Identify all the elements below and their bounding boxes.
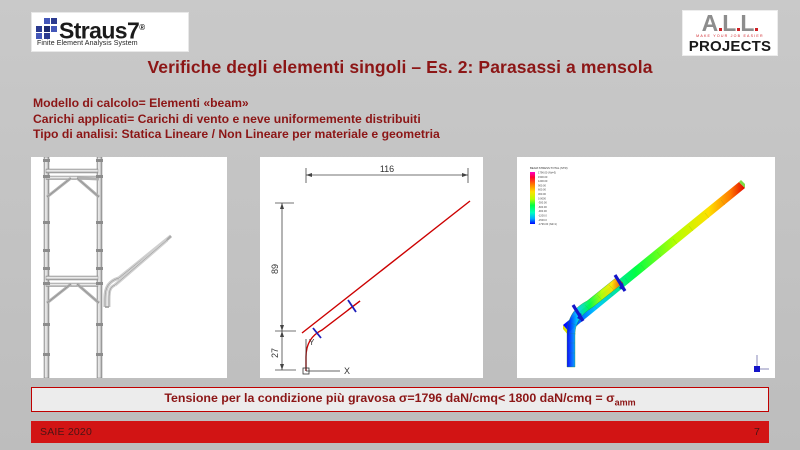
all-projects-logo: ALL MAKE YOUR JOB EASIER PROJECTS [682, 10, 778, 56]
svg-text:0.0000: 0.0000 [538, 196, 546, 200]
svg-text:900.00: 900.00 [538, 183, 546, 187]
straus7-wordmark: Straus7® [59, 17, 144, 42]
svg-text:-900.00: -900.00 [538, 209, 547, 213]
conclusion-subscript: amm [615, 398, 636, 408]
svg-text:600.00: 600.00 [538, 188, 546, 192]
image-panel-fe-result: BEAM:STRESS:TOTAL (STR) 1796.00 (Nd=3) 1… [517, 157, 775, 378]
svg-text:-600.00: -600.00 [538, 205, 547, 209]
svg-text:-1796.00 (Nd=1): -1796.00 (Nd=1) [538, 222, 557, 226]
svg-text:-1200.0: -1200.0 [538, 214, 547, 218]
straus7-tagline: Finite Element Analysis System [36, 40, 188, 47]
dimension-label-horizontal: 116 [380, 164, 394, 174]
slide-footer: SAIE 2020 7 [31, 421, 769, 443]
connector-element-1 [313, 328, 321, 338]
all-letters: ALL [702, 12, 759, 34]
axis-label-y: Y [309, 338, 315, 347]
contour-color-bar [530, 172, 535, 224]
registered-icon: ® [139, 23, 144, 32]
dimension-label-vertical-upper: 89 [270, 264, 280, 274]
all-projects-wordmark: PROJECTS [689, 39, 771, 55]
svg-text:1796.00 (Nd=3): 1796.00 (Nd=3) [538, 171, 556, 175]
result-upper-beam [563, 180, 745, 336]
straus7-logo-row: Straus7® [36, 17, 188, 42]
conclusion-text-main: Tensione per la condizione più gravosa σ… [164, 391, 614, 405]
footer-event-label: SAIE 2020 [40, 426, 92, 438]
beam-lower-member [306, 301, 360, 371]
slide: Straus7® Finite Element Analysis System … [0, 0, 800, 450]
beam-upper-member [302, 201, 470, 333]
straus7-logo: Straus7® Finite Element Analysis System [31, 12, 189, 52]
svg-text:300.00: 300.00 [538, 192, 546, 196]
bullet-item-analysis: Tipo di analisi: Statica Lineare / Non L… [33, 127, 440, 143]
image-panel-fe-geometry: 116 89 27 [260, 157, 483, 378]
axis-label-x: X [344, 366, 350, 376]
contour-legend-values: 1796.00 (Nd=3) 1500.00 1200.00 900.00 60… [538, 171, 557, 227]
conclusion-banner: Tensione per la condizione più gravosa σ… [31, 387, 769, 412]
dimension-label-vertical-lower: 27 [270, 348, 280, 358]
svg-text:1500.00: 1500.00 [538, 175, 548, 179]
image-panel-scaffold-frame [31, 157, 227, 378]
footer-page-number: 7 [754, 426, 760, 438]
axis-triad-icon [754, 355, 769, 372]
contour-legend-title: BEAM:STRESS:TOTAL (STR) [530, 166, 568, 170]
connector-element-2 [348, 300, 356, 312]
page-title: Verifiche degli elementi singoli – Es. 2… [0, 57, 800, 78]
svg-text:-300.00: -300.00 [538, 201, 547, 205]
conclusion-text: Tensione per la condizione più gravosa σ… [164, 391, 635, 407]
svg-text:1200.00: 1200.00 [538, 179, 548, 183]
straus7-grid-icon [36, 18, 57, 39]
bullet-item-loads: Carichi applicati= Carichi di vento e ne… [33, 112, 440, 128]
fe-geometry-drawing: 116 89 27 [260, 157, 483, 378]
contour-legend: BEAM:STRESS:TOTAL (STR) 1796.00 (Nd=3) 1… [530, 166, 568, 226]
svg-text:-1500.0: -1500.0 [538, 218, 547, 222]
bullet-item-model: Modello di calcolo= Elementi «beam» [33, 96, 440, 112]
bullet-list: Modello di calcolo= Elementi «beam» Cari… [33, 96, 440, 143]
scaffold-frame-drawing [31, 157, 227, 378]
fe-stress-contour-plot: BEAM:STRESS:TOTAL (STR) 1796.00 (Nd=3) 1… [517, 157, 775, 378]
